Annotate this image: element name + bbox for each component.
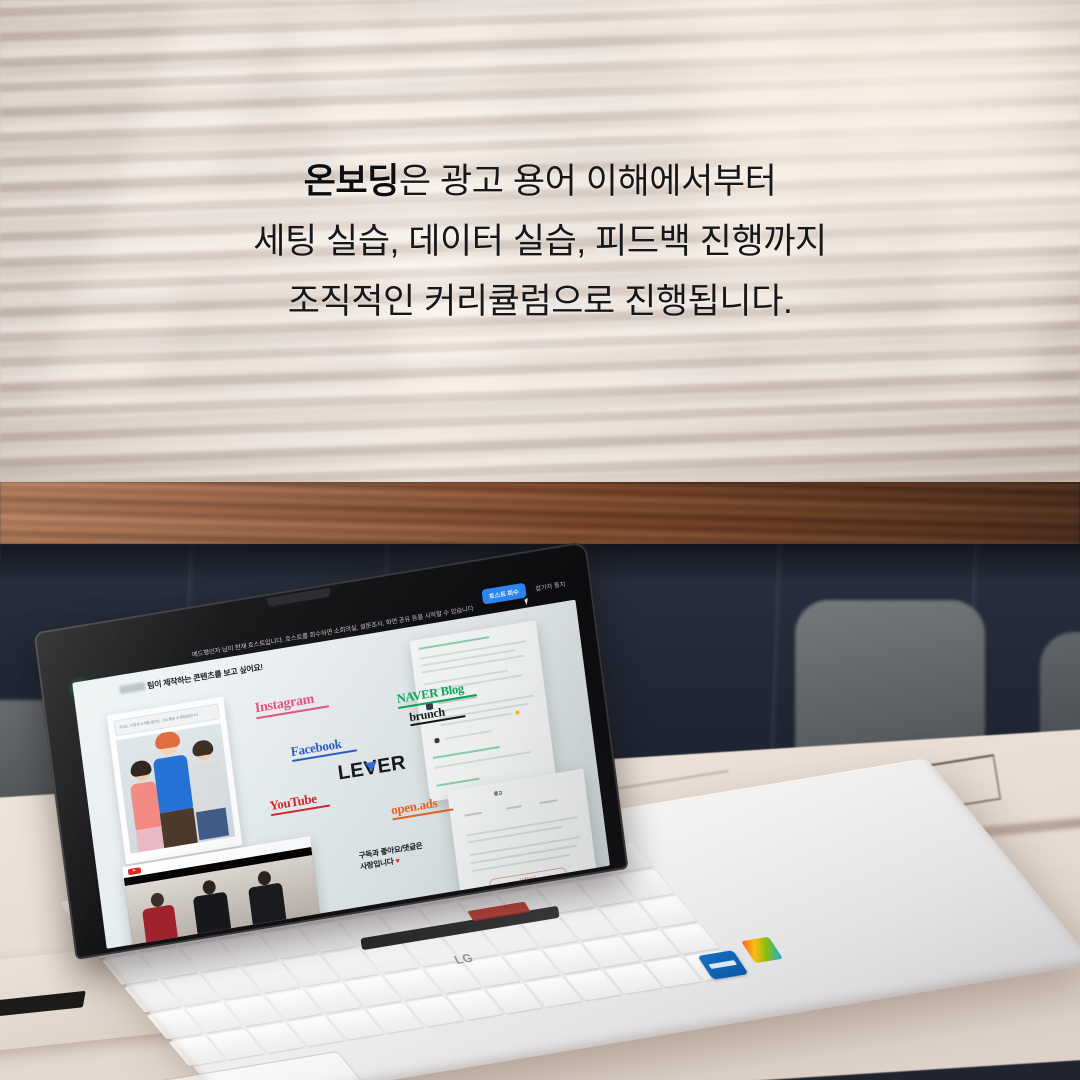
lever-logo-prefix: LE <box>337 758 366 784</box>
panel-line <box>444 730 492 740</box>
person-torso <box>248 882 287 927</box>
emoji-icon <box>515 710 519 715</box>
illustration-card[interactable]: 우리는 이렇게 소개할 줄아는 그냥 좋은 소개팅앱입니다 <box>107 696 243 864</box>
video-person <box>140 890 178 945</box>
video-person <box>191 878 232 937</box>
lever-logo: LEVER <box>337 752 408 786</box>
webcam-notch <box>267 588 331 607</box>
person-torso <box>193 892 232 937</box>
lever-logo-suffix: ER <box>376 752 407 779</box>
promo-card: A D U P 온보딩은 광고 용어 이해에서부터 세팅 실습, 데이터 실습,… <box>0 0 1080 1080</box>
lever-logo-v: V <box>363 756 380 781</box>
reclaim-host-label: 호스트 회수 <box>489 588 520 600</box>
headline-panel: A D U P 온보딩은 광고 용어 이해에서부터 세팅 실습, 데이터 실습,… <box>0 0 1080 482</box>
youtube-icon <box>128 867 142 875</box>
meeting-room-photo: LG 메드형인자 님이 현재 호스트입니다. 호스트를 회수하면 소회의실, 설… <box>0 482 1080 1080</box>
doc-col-header <box>506 805 522 810</box>
reclaim-host-button[interactable]: 호스트 회수 <box>481 582 527 604</box>
doc-panel-title: 광고 <box>494 790 503 797</box>
avatar <box>434 738 440 744</box>
laptop: LG 메드형인자 님이 현재 호스트입니다. 호스트를 회수하면 소회의실, 설… <box>0 482 1080 1080</box>
mouse-cursor-icon <box>524 597 530 604</box>
figure-legs <box>136 826 165 853</box>
figure-body <box>153 754 194 813</box>
headline-line-3: 조직적인 커리큘럼으로 진행됩니다. <box>0 272 1080 332</box>
page-heading-text: 팀이 제작하는 콘텐츠를 보고 싶어요! <box>147 663 264 691</box>
headline-line-2: 세팅 실습, 데이터 실습, 피드백 진행까지 <box>0 212 1080 272</box>
headline-line-1: 온보딩은 광고 용어 이해에서부터 <box>0 152 1080 212</box>
subscribe-message: 구독과 좋아요/댓글은 사랑입니다 ♥ <box>358 840 425 872</box>
doc-col-header <box>464 812 482 817</box>
person-torso <box>142 904 178 945</box>
headline-emphasis: 온보딩 <box>304 162 399 201</box>
figure-body <box>190 760 226 813</box>
headline-line-1-rest: 은 광고 용어 이해에서부터 <box>399 162 777 201</box>
headline-text: 온보딩은 광고 용어 이해에서부터 세팅 실습, 데이터 실습, 피드백 진행까… <box>0 152 1080 332</box>
figure-legs <box>160 808 198 849</box>
participant-notice: 참가자 통지 <box>535 579 566 593</box>
illustration-art <box>116 723 235 853</box>
video-person <box>246 868 287 927</box>
figure-legs <box>196 808 229 841</box>
redacted-name <box>119 682 146 694</box>
heart-icon: ♥ <box>395 856 400 866</box>
doc-col-header <box>539 799 557 804</box>
